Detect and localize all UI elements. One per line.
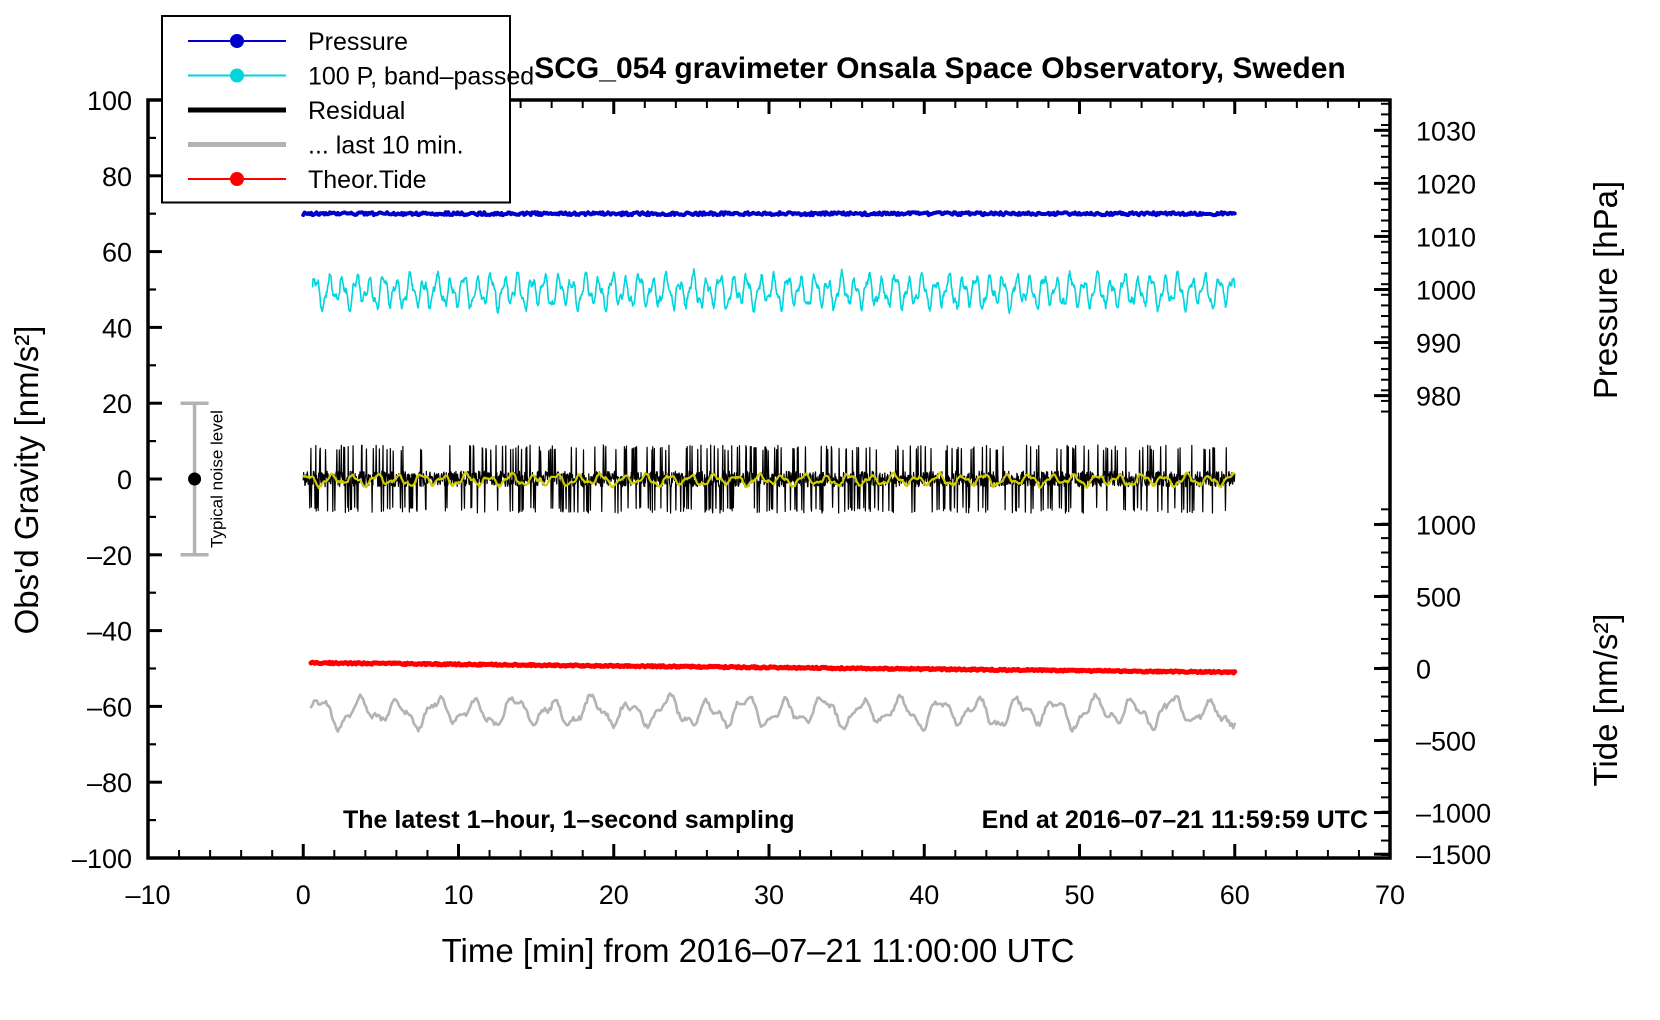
x-tick-label: 10 — [443, 880, 473, 910]
right-pressure-tick-label: 1030 — [1416, 116, 1476, 146]
noise-level-dot — [188, 473, 201, 486]
legend-label-0[interactable]: Pressure — [308, 28, 408, 56]
x-axis-title: Time [min] from 2016–07–21 11:00:00 UTC — [442, 932, 1075, 969]
x-tick-label: 0 — [296, 880, 311, 910]
right-pressure-tick-label: 1000 — [1416, 276, 1476, 306]
x-tick-label: –10 — [125, 880, 170, 910]
legend-marker-1 — [230, 69, 244, 83]
y-tick-label: 100 — [87, 86, 132, 116]
y-axis-title: Obs'd Gravity [nm/s²] — [8, 326, 45, 635]
x-tick-label: 50 — [1064, 880, 1094, 910]
y-tick-label: –80 — [87, 768, 132, 798]
right-tide-tick-label: –1500 — [1416, 840, 1491, 870]
right-axis-title-pressure: Pressure [hPa] — [1587, 181, 1624, 399]
y-tick-label: –40 — [87, 617, 132, 647]
y-tick-label: –100 — [72, 844, 132, 874]
right-tide-tick-label: 1000 — [1416, 510, 1476, 540]
y-tick-label: 60 — [102, 238, 132, 268]
sampling-note: The latest 1–hour, 1–second sampling — [343, 806, 795, 834]
x-tick-label: 30 — [754, 880, 784, 910]
chart-canvas: 100806040200–20–40–60–80–100–10010203040… — [0, 0, 1660, 1020]
y-tick-label: –60 — [87, 692, 132, 722]
right-tide-tick-label: 0 — [1416, 655, 1431, 685]
right-tide-tick-label: –500 — [1416, 727, 1476, 757]
legend-label-2[interactable]: Residual — [308, 97, 405, 125]
legend-group: Pressure100 P, band–passedResidual... la… — [162, 16, 534, 203]
right-axis-title-tide: Tide [nm/s²] — [1587, 614, 1624, 787]
legend-label-3[interactable]: ... last 10 min. — [308, 132, 464, 160]
legend-marker-0 — [230, 34, 244, 48]
right-pressure-tick-label: 1010 — [1416, 222, 1476, 252]
right-tide-tick-label: –1000 — [1416, 799, 1491, 829]
right-pressure-tick-label: 980 — [1416, 382, 1461, 412]
y-tick-label: 0 — [117, 465, 132, 495]
noise-level-label: Typical noise level — [208, 410, 227, 548]
right-pressure-tick-label: 1020 — [1416, 169, 1476, 199]
legend-label-1[interactable]: 100 P, band–passed — [308, 63, 534, 91]
right-tide-tick-label: 500 — [1416, 582, 1461, 612]
y-tick-label: 40 — [102, 313, 132, 343]
y-tick-label: –20 — [87, 541, 132, 571]
x-tick-label: 40 — [909, 880, 939, 910]
legend-label-4[interactable]: Theor.Tide — [308, 166, 427, 194]
x-tick-label: 70 — [1375, 880, 1405, 910]
chart-title: SCG_054 gravimeter Onsala Space Observat… — [534, 52, 1346, 85]
x-tick-label: 20 — [599, 880, 629, 910]
legend-marker-4 — [230, 172, 244, 186]
end-time-note: End at 2016–07–21 11:59:59 UTC — [982, 806, 1368, 834]
series-pressure — [303, 212, 1235, 215]
gravimeter-timeseries-plot: 100806040200–20–40–60–80–100–10010203040… — [0, 0, 1660, 1020]
x-tick-label: 60 — [1220, 880, 1250, 910]
y-tick-label: 20 — [102, 389, 132, 419]
y-tick-label: 80 — [102, 162, 132, 192]
right-pressure-tick-label: 990 — [1416, 329, 1461, 359]
